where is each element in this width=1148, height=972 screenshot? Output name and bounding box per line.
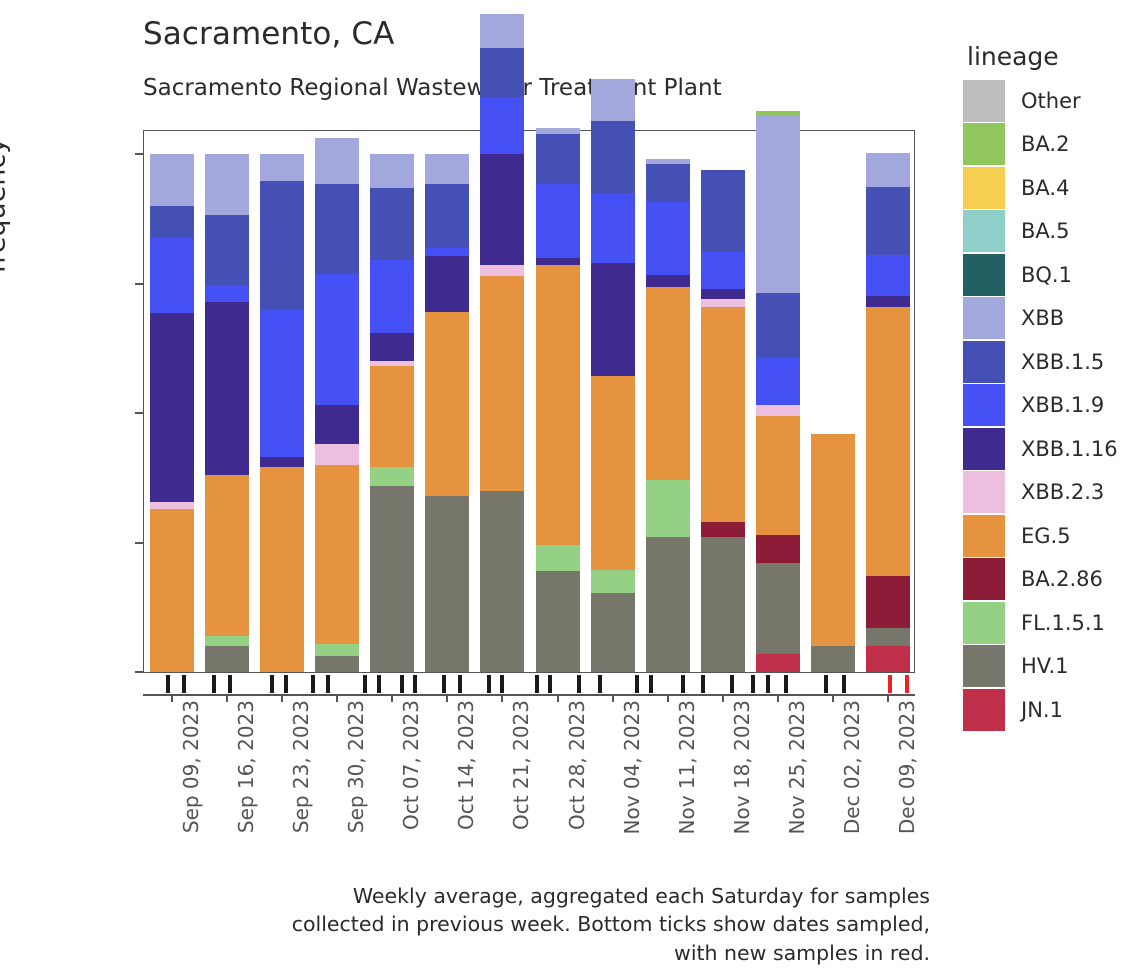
y-tick-mark-50: [135, 412, 143, 414]
legend-item-ba-4[interactable]: BA.4: [963, 166, 1148, 210]
legend-swatch-icon: [963, 645, 1005, 687]
bar-segment-jn-1[interactable]: [756, 654, 800, 672]
y-axis-label: frequency: [0, 106, 12, 306]
bar-segment-xbb-1-16[interactable]: [591, 263, 635, 376]
sample-tick: [413, 675, 417, 693]
bar-segment-xbb-1-5[interactable]: [701, 170, 745, 253]
bar-segment-xbb-1-16[interactable]: [480, 154, 524, 265]
bar-segment-eg-5[interactable]: [315, 465, 359, 644]
sample-tick: [400, 675, 404, 693]
bar-segment-xbb[interactable]: [536, 128, 580, 134]
bar-segment-xbb-2-3[interactable]: [315, 444, 359, 465]
bar-segment-xbb[interactable]: [480, 14, 524, 48]
x-tick-label: Sep 23, 2023: [289, 700, 313, 833]
sample-tick: [500, 675, 504, 693]
bar-segment-xbb-1-9[interactable]: [150, 238, 194, 313]
sample-tick: [681, 675, 685, 693]
legend-swatch-icon: [963, 167, 1005, 209]
sample-tick: [751, 675, 755, 693]
legend-label: HV.1: [1021, 654, 1069, 678]
x-tick-mark: [722, 694, 724, 702]
x-tick-mark: [446, 694, 448, 702]
bar-segment-xbb-2-3[interactable]: [701, 299, 745, 307]
x-axis-line: [143, 694, 915, 696]
bar-segment-fl-1-5-1[interactable]: [646, 480, 690, 537]
sample-tick: [548, 675, 552, 693]
legend-swatch-icon: [963, 558, 1005, 600]
bar-segment-hv-1[interactable]: [756, 563, 800, 654]
chart-root: Sacramento, CA Sacramento Regional Waste…: [0, 0, 1148, 972]
sample-tick: [363, 675, 367, 693]
sample-tick: [326, 675, 330, 693]
bar-segment-xbb-1-9[interactable]: [425, 248, 469, 256]
sample-tick: [824, 675, 828, 693]
sample-tick: [458, 675, 462, 693]
bar-segment-xbb-2-3[interactable]: [756, 405, 800, 415]
bar-segment-hv-1[interactable]: [205, 646, 249, 672]
legend-swatch-icon: [963, 515, 1005, 557]
bar-segment-xbb-1-16[interactable]: [205, 302, 249, 475]
bar-segment-ba-2-86[interactable]: [866, 576, 910, 628]
x-tick-mark: [226, 694, 228, 702]
bar-segment-eg-5[interactable]: [205, 475, 249, 636]
sample-tick: [730, 675, 734, 693]
bar-segment-jn-1[interactable]: [866, 646, 910, 672]
bar-oct-21-2023[interactable]: [480, 154, 524, 672]
bar-segment-xbb-1-9[interactable]: [260, 310, 304, 456]
bar-segment-xbb[interactable]: [866, 153, 910, 187]
bar-segment-xbb-1-16[interactable]: [370, 333, 414, 361]
sample-tick: [377, 675, 381, 693]
legend: lineage OtherBA.2BA.4BA.5BQ.1XBBXBB.1.5X…: [963, 42, 1148, 732]
x-tick-label: Nov 04, 2023: [620, 700, 644, 834]
x-tick-label: Oct 21, 2023: [509, 700, 533, 830]
bar-segment-xbb-1-9[interactable]: [370, 260, 414, 333]
bar-segment-xbb-2-3[interactable]: [150, 502, 194, 509]
caption-line-2: collected in previous week. Bottom ticks…: [150, 910, 930, 938]
bar-segment-eg-5[interactable]: [425, 312, 469, 496]
bar-segment-xbb-1-5[interactable]: [150, 206, 194, 238]
legend-label: BA.4: [1021, 176, 1069, 200]
bar-segment-xbb-1-16[interactable]: [425, 256, 469, 312]
legend-item-xbb-1-9[interactable]: XBB.1.9: [963, 384, 1148, 428]
bar-segment-eg-5[interactable]: [260, 467, 304, 672]
bar-nov-18-2023[interactable]: [701, 154, 745, 672]
chart-subtitle: Sacramento Regional Wastewater Treatment…: [143, 75, 722, 101]
bar-segment-xbb[interactable]: [591, 79, 635, 121]
bar-segment-hv-1[interactable]: [811, 646, 855, 672]
legend-swatch-icon: [963, 428, 1005, 470]
sample-tick: [270, 675, 274, 693]
x-tick-mark: [612, 694, 614, 702]
sample-tick: [649, 675, 653, 693]
y-tick-mark-100: [135, 153, 143, 155]
bar-segment-xbb-1-16[interactable]: [536, 258, 580, 266]
legend-swatch-icon: [963, 254, 1005, 296]
bar-sep-09-2023[interactable]: [150, 154, 194, 672]
bar-segment-fl-1-5-1[interactable]: [315, 644, 359, 657]
sample-tick: [212, 675, 216, 693]
bar-sep-23-2023[interactable]: [260, 154, 304, 672]
bar-segment-ba-2-86[interactable]: [701, 522, 745, 538]
bar-segment-xbb[interactable]: [315, 138, 359, 184]
legend-swatch-icon: [963, 341, 1005, 383]
bar-segment-eg-5[interactable]: [811, 434, 855, 646]
bar-segment-eg-5[interactable]: [701, 307, 745, 522]
bar-segment-eg-5[interactable]: [150, 509, 194, 672]
legend-label: XBB.1.16: [1021, 437, 1118, 461]
x-tick-mark: [667, 694, 669, 702]
bar-segment-xbb[interactable]: [150, 154, 194, 206]
legend-item-ba-2-86[interactable]: BA.2.86: [963, 558, 1148, 602]
sample-tick: [284, 675, 288, 693]
x-tick-label: Sep 30, 2023: [344, 700, 368, 833]
bar-nov-04-2023[interactable]: [591, 154, 635, 672]
x-tick-label: Dec 09, 2023: [895, 700, 919, 834]
bar-segment-hv-1[interactable]: [480, 491, 524, 672]
bar-segment-fl-1-5-1[interactable]: [370, 467, 414, 485]
bar-oct-07-2023[interactable]: [370, 154, 414, 672]
legend-label: BA.2.86: [1021, 567, 1103, 591]
bar-nov-25-2023[interactable]: [756, 154, 800, 672]
bar-segment-xbb-1-16[interactable]: [315, 405, 359, 444]
legend-swatch-icon: [963, 80, 1005, 122]
bar-oct-14-2023[interactable]: [425, 154, 469, 672]
bar-segment-xbb-2-3[interactable]: [480, 265, 524, 275]
sample-tick-strip: [143, 673, 915, 695]
bar-segment-xbb-1-5[interactable]: [536, 134, 580, 183]
x-tick-mark: [832, 694, 834, 702]
bar-segment-xbb[interactable]: [205, 154, 249, 215]
bar-segment-xbb-1-5[interactable]: [425, 184, 469, 249]
bar-segment-hv-1[interactable]: [425, 496, 469, 672]
bar-segment-fl-1-5-1[interactable]: [205, 636, 249, 646]
bar-segment-xbb-1-5[interactable]: [480, 48, 524, 97]
x-tick-mark: [171, 694, 173, 702]
legend-swatch-icon: [963, 297, 1005, 339]
legend-label: BA.5: [1021, 219, 1069, 243]
bar-sep-30-2023[interactable]: [315, 154, 359, 672]
bar-segment-hv-1[interactable]: [646, 537, 690, 672]
x-tick-mark: [777, 694, 779, 702]
x-tick-label: Nov 18, 2023: [730, 700, 754, 834]
bar-segment-xbb-1-16[interactable]: [866, 296, 910, 306]
bar-dec-09-2023[interactable]: [866, 154, 910, 672]
legend-label: XBB.1.9: [1021, 393, 1104, 417]
sample-tick: [842, 675, 846, 693]
x-tick-mark: [391, 694, 393, 702]
sample-tick: [166, 675, 170, 693]
sample-tick: [311, 675, 315, 693]
bar-segment-xbb-1-16[interactable]: [646, 275, 690, 287]
bar-segment-xbb-1-16[interactable]: [260, 457, 304, 467]
bar-segment-ba-2[interactable]: [756, 111, 800, 115]
y-tick-mark-0: [135, 671, 143, 673]
legend-label: JN.1: [1021, 698, 1063, 722]
bar-segment-eg-5[interactable]: [370, 366, 414, 467]
sample-tick: [598, 675, 602, 693]
caption-line-1: Weekly average, aggregated each Saturday…: [150, 882, 930, 910]
chart-caption: Weekly average, aggregated each Saturday…: [150, 882, 930, 967]
sample-tick: [487, 675, 491, 693]
sample-tick: [182, 675, 186, 693]
bar-segment-xbb-1-5[interactable]: [260, 181, 304, 311]
x-tick-label: Oct 28, 2023: [565, 700, 589, 830]
legend-item-xbb-2-3[interactable]: XBB.2.3: [963, 471, 1148, 515]
x-tick-label: Nov 11, 2023: [675, 700, 699, 834]
bar-segment-xbb-1-5[interactable]: [646, 164, 690, 201]
bar-segment-xbb-1-5[interactable]: [370, 188, 414, 261]
plot-area: [143, 130, 915, 673]
x-tick-mark: [557, 694, 559, 702]
sample-tick: [766, 675, 770, 693]
bar-segment-xbb-1-9[interactable]: [866, 255, 910, 296]
x-tick-mark: [501, 694, 503, 702]
bar-segment-hv-1[interactable]: [536, 571, 580, 672]
bar-segment-xbb-1-9[interactable]: [591, 193, 635, 263]
legend-item-eg-5[interactable]: EG.5: [963, 514, 1148, 558]
bar-segment-hv-1[interactable]: [370, 486, 414, 672]
legend-swatch-icon: [963, 602, 1005, 644]
sample-tick: [888, 675, 892, 693]
bar-segment-eg-5[interactable]: [756, 416, 800, 535]
bar-segment-xbb[interactable]: [646, 159, 690, 164]
bar-segment-fl-1-5-1[interactable]: [536, 545, 580, 571]
bar-segment-fl-1-5-1[interactable]: [591, 570, 635, 593]
bar-segment-xbb-1-9[interactable]: [315, 274, 359, 405]
sample-tick: [701, 675, 705, 693]
legend-rows: OtherBA.2BA.4BA.5BQ.1XBBXBB.1.5XBB.1.9XB…: [963, 79, 1148, 732]
chart-title: Sacramento, CA: [143, 16, 394, 52]
bar-segment-hv-1[interactable]: [591, 593, 635, 672]
bar-dec-02-2023[interactable]: [811, 154, 855, 672]
legend-item-jn-1[interactable]: JN.1: [963, 688, 1148, 732]
x-tick-label: Dec 02, 2023: [840, 700, 864, 834]
bar-group: [144, 131, 914, 672]
legend-label: BA.2: [1021, 132, 1069, 156]
legend-swatch-icon: [963, 123, 1005, 165]
legend-swatch-icon: [963, 384, 1005, 426]
legend-item-ba-5[interactable]: BA.5: [963, 210, 1148, 254]
bar-segment-hv-1[interactable]: [866, 628, 910, 646]
legend-label: XBB: [1021, 306, 1064, 330]
bar-segment-hv-1[interactable]: [315, 656, 359, 672]
bar-segment-xbb-1-5[interactable]: [866, 187, 910, 255]
sample-tick: [228, 675, 232, 693]
legend-item-xbb[interactable]: XBB: [963, 297, 1148, 341]
bar-segment-xbb[interactable]: [370, 154, 414, 188]
sample-tick: [442, 675, 446, 693]
y-tick-mark-75: [135, 283, 143, 285]
bar-segment-eg-5[interactable]: [536, 265, 580, 545]
bar-nov-11-2023[interactable]: [646, 154, 690, 672]
bar-segment-xbb-1-9[interactable]: [646, 202, 690, 276]
bar-segment-eg-5[interactable]: [480, 276, 524, 491]
caption-line-3: with new samples in red.: [150, 939, 930, 967]
legend-label: Other: [1021, 89, 1081, 113]
bar-segment-xbb[interactable]: [260, 154, 304, 181]
bar-segment-eg-5[interactable]: [646, 287, 690, 480]
sample-tick: [784, 675, 788, 693]
bar-sep-16-2023[interactable]: [205, 154, 249, 672]
legend-label: BQ.1: [1021, 263, 1072, 287]
bar-oct-28-2023[interactable]: [536, 154, 580, 672]
bar-segment-xbb-1-9[interactable]: [205, 285, 249, 302]
y-tick-mark-25: [135, 542, 143, 544]
bar-segment-xbb-1-9[interactable]: [756, 358, 800, 406]
x-tick-label: Nov 25, 2023: [785, 700, 809, 834]
legend-label: FL.1.5.1: [1021, 611, 1105, 635]
legend-item-xbb-1-5[interactable]: XBB.1.5: [963, 340, 1148, 384]
x-tick-mark: [281, 694, 283, 702]
bar-segment-xbb[interactable]: [425, 154, 469, 184]
legend-item-bq-1[interactable]: BQ.1: [963, 253, 1148, 297]
x-tick-label: Sep 16, 2023: [234, 700, 258, 833]
legend-label: EG.5: [1021, 524, 1071, 548]
legend-item-xbb-1-16[interactable]: XBB.1.16: [963, 427, 1148, 471]
bar-segment-xbb-1-16[interactable]: [701, 289, 745, 299]
sample-tick: [635, 675, 639, 693]
bar-segment-hv-1[interactable]: [701, 537, 745, 672]
legend-swatch-icon: [963, 471, 1005, 513]
x-tick-label: Oct 14, 2023: [454, 700, 478, 830]
bar-segment-xbb[interactable]: [756, 115, 800, 293]
x-tick-label: Sep 09, 2023: [179, 700, 203, 833]
bar-segment-xbb-1-5[interactable]: [756, 293, 800, 358]
bar-segment-xbb-1-5[interactable]: [315, 184, 359, 274]
bar-segment-ba-2-86[interactable]: [756, 535, 800, 563]
bar-segment-xbb-2-3[interactable]: [370, 361, 414, 366]
bar-segment-xbb-1-16[interactable]: [150, 313, 194, 502]
x-tick-mark: [336, 694, 338, 702]
bar-segment-xbb-1-9[interactable]: [701, 252, 745, 288]
bar-segment-eg-5[interactable]: [866, 307, 910, 576]
legend-item-other[interactable]: Other: [963, 79, 1148, 123]
sample-tick: [535, 675, 539, 693]
bar-segment-xbb-1-5[interactable]: [591, 121, 635, 192]
sample-tick: [905, 675, 909, 693]
bar-segment-xbb-1-9[interactable]: [480, 97, 524, 154]
x-tick-label: Oct 07, 2023: [399, 700, 423, 830]
legend-item-fl-1-5-1[interactable]: FL.1.5.1: [963, 601, 1148, 645]
bar-segment-xbb-1-5[interactable]: [205, 215, 249, 284]
legend-item-hv-1[interactable]: HV.1: [963, 645, 1148, 689]
legend-label: XBB.1.5: [1021, 350, 1104, 374]
bar-segment-eg-5[interactable]: [591, 376, 635, 570]
bar-segment-xbb-1-9[interactable]: [536, 184, 580, 258]
legend-swatch-icon: [963, 210, 1005, 252]
legend-label: XBB.2.3: [1021, 480, 1104, 504]
sample-tick: [577, 675, 581, 693]
x-tick-mark: [887, 694, 889, 702]
legend-swatch-icon: [963, 689, 1005, 731]
legend-item-ba-2[interactable]: BA.2: [963, 123, 1148, 167]
legend-title: lineage: [967, 42, 1148, 71]
